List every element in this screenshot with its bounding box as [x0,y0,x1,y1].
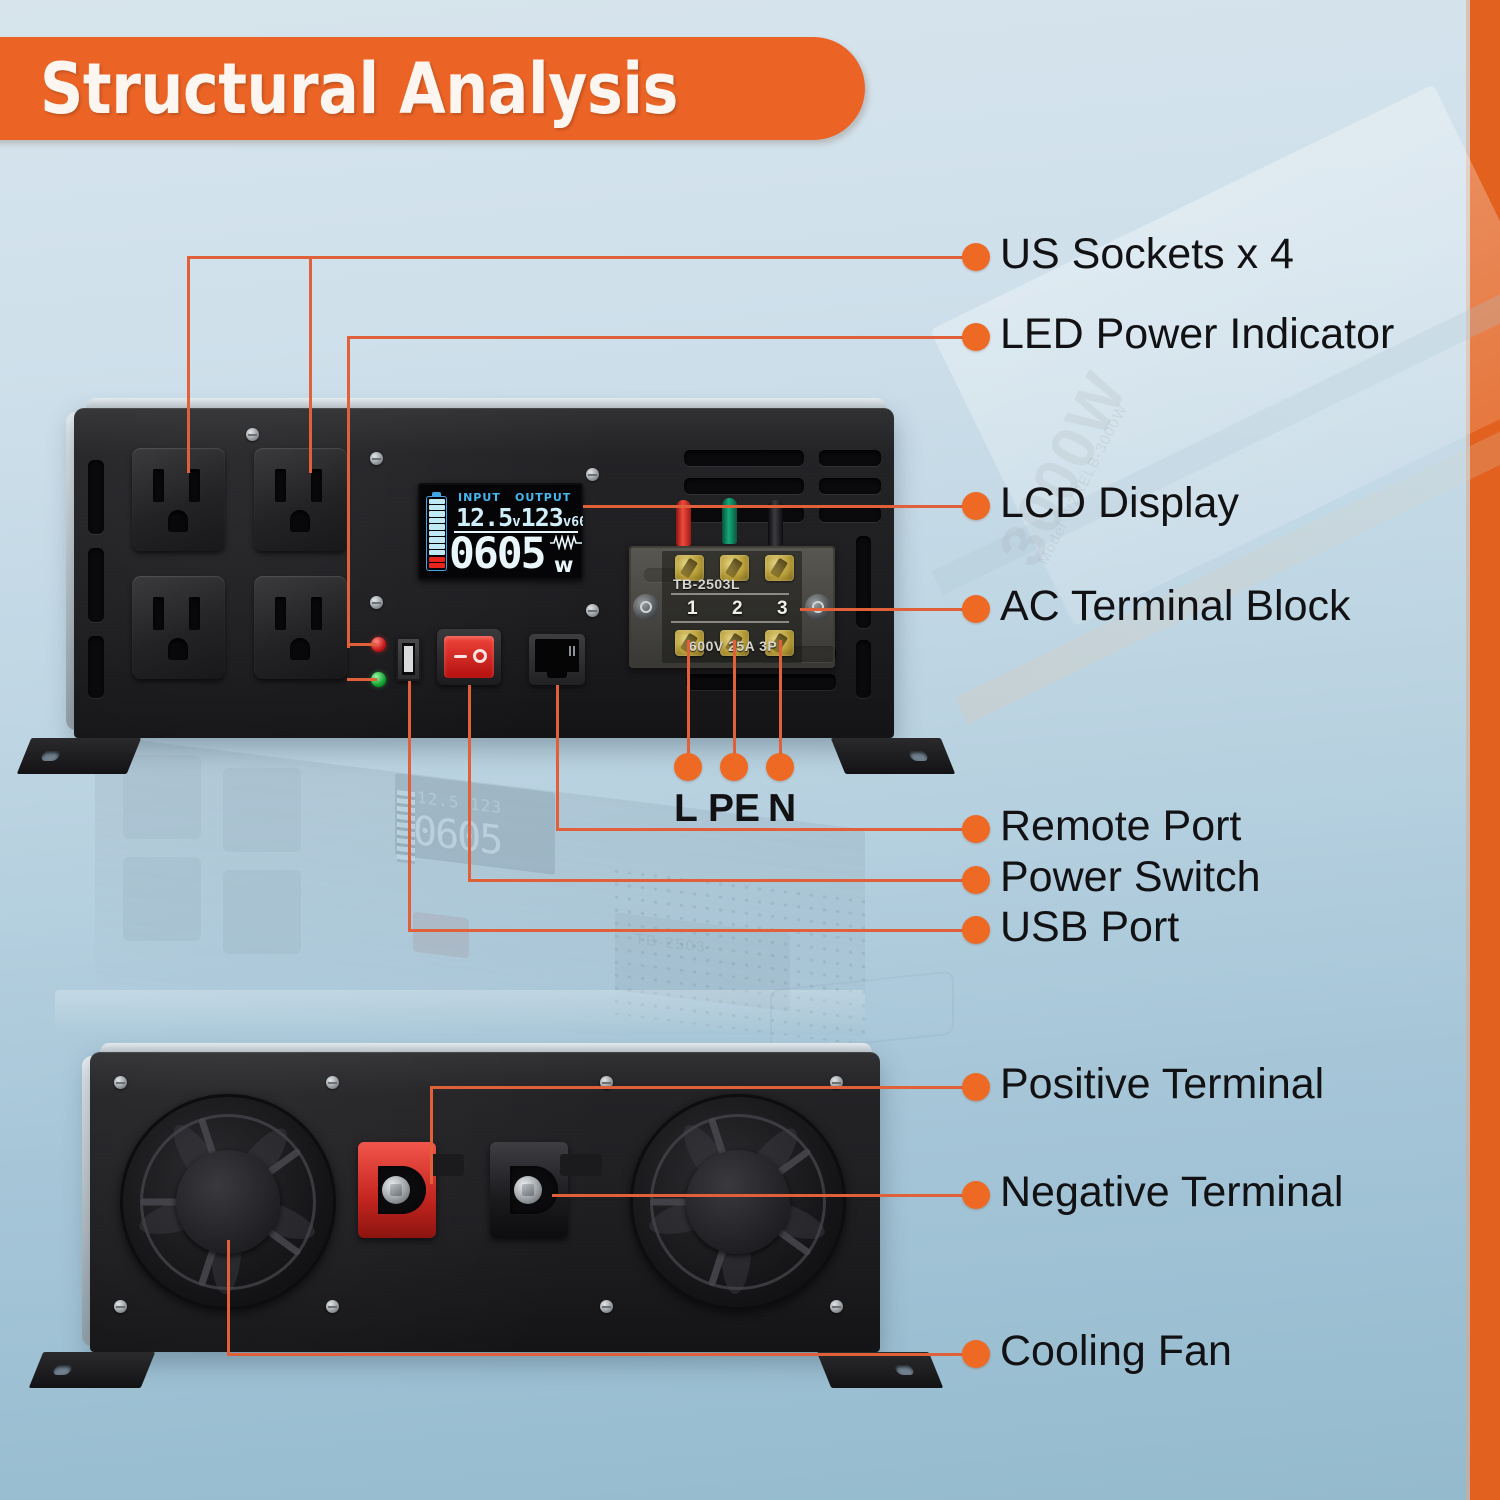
lcd-input-voltage: 12.5 [456,503,512,532]
infographic-page: 3000W Model WZRELB-3000W 12.5 123 0605 T… [0,0,1500,1500]
watermark-power-text: 3000W [985,361,1142,577]
dot-positive-terminal [962,1073,990,1101]
leader-led-h3 [347,678,377,681]
dot-power-switch [962,866,990,894]
label-pin-n: N [768,787,796,831]
mounting-foot-rear-right [817,1352,944,1388]
battery-gauge-icon [426,492,447,571]
mounting-foot-left [17,738,142,774]
leader-sockets-stem-2 [309,258,312,473]
dot-pin-l [674,753,702,781]
dot-usb-port [962,916,990,944]
us-socket-1[interactable] [132,448,225,551]
lcd-display: INPUT OUTPUT 12.5v123v60Hz 0605 w [418,483,583,580]
leader-pin-n [779,640,782,755]
leader-sockets-stem-1 [187,258,190,473]
label-led-power: LED Power Indicator [1000,310,1394,359]
label-us-sockets: US Sockets x 4 [1000,230,1294,279]
positive-terminal[interactable] [358,1142,436,1238]
lcd-output-unit: v [563,514,571,530]
leader-positive-stem [430,1086,433,1184]
switch-off-symbol [473,649,487,663]
dot-led-power [962,323,990,351]
dot-negative-terminal [962,1181,990,1209]
leader-usb-h [408,929,977,932]
dot-cooling-fan [962,1340,990,1368]
terminal-number-3: 3 [777,598,788,620]
dot-us-sockets [962,243,990,271]
lcd-input-unit: v [512,514,520,530]
terminal-number-1: 1 [687,598,698,620]
dot-ac-terminal [962,595,990,623]
leader-led-h1 [347,336,977,339]
leader-positive-h [430,1086,977,1089]
leader-remote-h [556,828,977,831]
lcd-values-row: 12.5v123v60Hz [456,503,583,532]
terminal-block-model: TB-2503L [673,576,740,592]
cooling-fan-right [630,1094,846,1310]
mounting-foot-right [831,738,956,774]
lcd-power-unit: w [554,553,573,577]
ghost-plate [55,990,865,1030]
leader-led-h2 [347,643,377,646]
dot-remote-port [962,815,990,843]
leader-negative-h [552,1194,977,1197]
inverter-rear-panel [90,1052,880,1352]
label-ac-terminal: AC Terminal Block [1000,582,1351,631]
leader-led-stem [347,338,350,648]
mounting-foot-rear-left [29,1352,156,1388]
usb-port[interactable] [396,637,421,681]
leader-pin-l [687,640,690,755]
edge-accent-bar [1470,0,1500,1500]
us-socket-2[interactable] [254,448,347,551]
us-socket-4[interactable] [254,576,347,679]
label-negative-terminal: Negative Terminal [1000,1168,1343,1217]
label-power-switch: Power Switch [1000,853,1260,902]
label-pin-pe: PE [708,787,760,831]
leader-remote-stem [556,685,559,830]
negative-terminal[interactable] [490,1142,568,1238]
leader-sockets-h [187,256,977,259]
leader-switch-h [468,879,977,882]
label-pin-l: L [674,787,698,831]
switch-on-symbol [454,655,467,658]
dot-pin-n [766,753,794,781]
terminal-screw-3-top[interactable] [765,555,794,581]
dot-pin-pe [720,753,748,781]
label-usb-port: USB Port [1000,903,1179,952]
leader-lcd-h [583,505,977,508]
leader-fan-h [227,1353,977,1356]
leader-switch-stem [468,685,471,881]
label-positive-terminal: Positive Terminal [1000,1060,1324,1109]
leader-pin-pe [733,640,736,755]
watermark-stripe-bottom [955,426,1500,725]
power-switch[interactable] [437,629,501,685]
lcd-output-voltage: 123 [521,503,563,532]
label-lcd-display: LCD Display [1000,479,1239,528]
leader-acterm-h [800,608,977,611]
ac-terminal-block[interactable]: TB-2503L 1 2 3 600V 25A 3P [629,546,835,668]
label-cooling-fan: Cooling Fan [1000,1327,1232,1376]
label-remote-port: Remote Port [1000,802,1241,851]
leader-usb-stem [408,681,411,931]
leader-fan-stem [227,1240,230,1355]
page-title: Structural Analysis [40,51,754,127]
terminal-number-2: 2 [732,598,743,620]
lcd-frequency: 60Hz [571,515,583,530]
remote-port[interactable] [529,634,585,685]
us-socket-3[interactable] [132,576,225,679]
lcd-power-value: 0605 [449,533,545,576]
sine-wave-icon [549,535,583,550]
dot-lcd-display [962,492,990,520]
